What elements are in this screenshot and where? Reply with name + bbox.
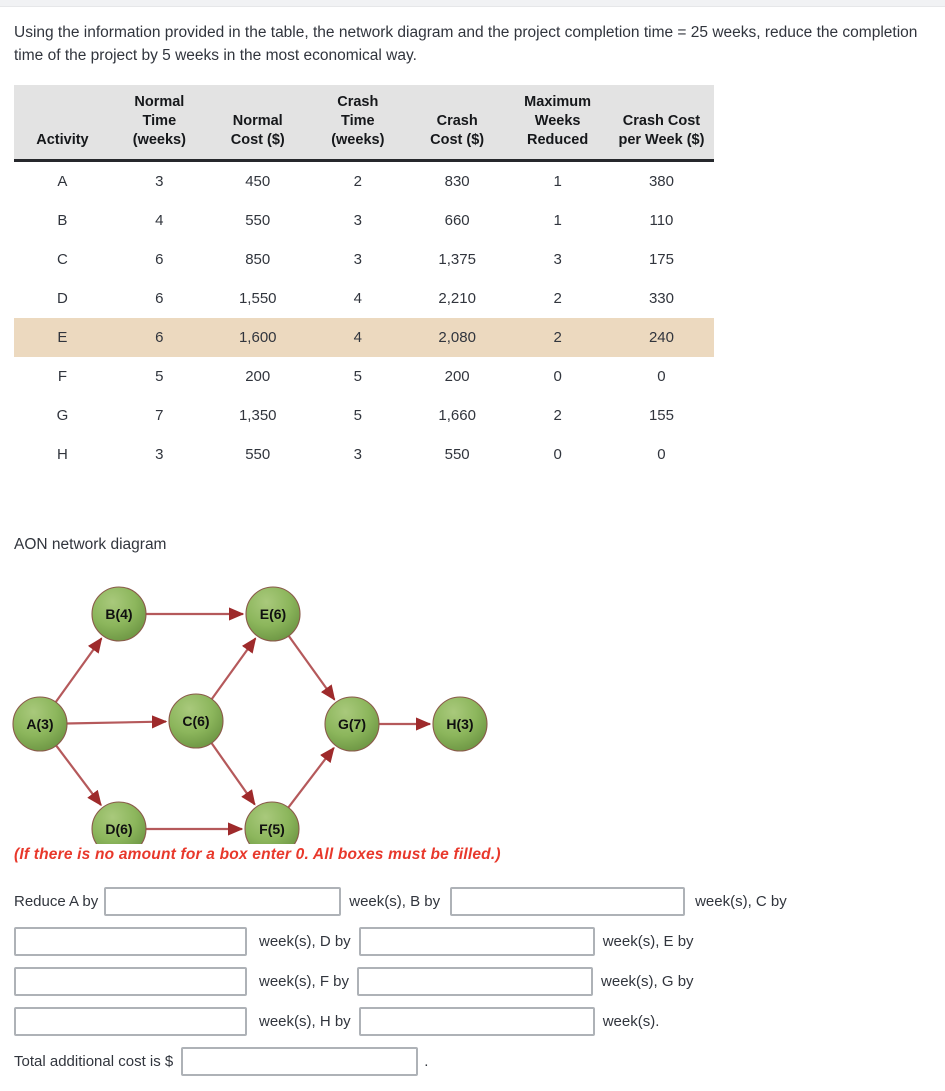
total-period: .	[424, 1053, 428, 1070]
cell-crash-cost: 660	[408, 201, 506, 240]
cell-normal-time: 3	[111, 161, 208, 202]
aon-diagram-svg: A(3)B(4)C(6)D(6)E(6)F(5)G(7)H(3)	[0, 554, 520, 844]
table-row: H 3 550 3 550 0 0	[14, 435, 714, 474]
col-header-crash-cost: Crash Cost ($)	[408, 85, 506, 161]
cell-max-weeks-reduced: 2	[506, 318, 609, 357]
cell-max-weeks-reduced: 2	[506, 279, 609, 318]
node-label: G(7)	[338, 716, 366, 732]
cell-normal-time: 6	[111, 279, 208, 318]
input-reduce-f[interactable]	[357, 967, 593, 996]
cell-crash-time: 5	[308, 357, 408, 396]
col-header-crash-cost-per-week: Crash Cost per Week ($)	[609, 85, 714, 161]
table-row-highlighted: E 6 1,600 4 2,080 2 240	[14, 318, 714, 357]
diagram-edge-a-b	[55, 638, 101, 703]
cell-max-weeks-reduced: 1	[506, 161, 609, 202]
input-reduce-e[interactable]	[14, 967, 247, 996]
cell-max-weeks-reduced: 1	[506, 201, 609, 240]
cell-crash-cost: 550	[408, 435, 506, 474]
cell-crash-cost-per-week: 155	[609, 396, 714, 435]
node-label: H(3)	[446, 716, 473, 732]
cell-crash-cost: 1,375	[408, 240, 506, 279]
diagram-edge-a-c	[66, 722, 166, 724]
label-week-d: week(s), D by	[259, 933, 351, 950]
diagram-edge-c-e	[211, 638, 255, 700]
node-label: E(6)	[260, 606, 286, 622]
diagram-node-e: E(6)	[246, 587, 300, 641]
form-row-4: week(s), H by week(s).	[14, 1006, 945, 1036]
cell-crash-time: 2	[308, 161, 408, 202]
diagram-node-h: H(3)	[433, 697, 487, 751]
cell-activity: E	[14, 318, 111, 357]
cell-crash-time: 4	[308, 279, 408, 318]
table-row: B 4 550 3 660 1 110	[14, 201, 714, 240]
cell-crash-cost: 2,210	[408, 279, 506, 318]
table-row: F 5 200 5 200 0 0	[14, 357, 714, 396]
cell-normal-cost: 1,550	[208, 279, 308, 318]
cell-normal-time: 3	[111, 435, 208, 474]
node-label: B(4)	[105, 606, 132, 622]
cell-normal-time: 4	[111, 201, 208, 240]
node-label: D(6)	[105, 821, 132, 837]
diagram-node-d: D(6)	[92, 802, 146, 844]
col-header-normal-cost: Normal Cost ($)	[208, 85, 308, 161]
diagram-node-f: F(5)	[245, 802, 299, 844]
diagram-edge-f-g	[288, 748, 334, 808]
label-week-b: week(s), B by	[349, 893, 440, 910]
input-total-additional-cost[interactable]	[181, 1047, 418, 1076]
diagram-node-b: B(4)	[92, 587, 146, 641]
label-week-f: week(s), F by	[259, 973, 349, 990]
cell-crash-cost: 2,080	[408, 318, 506, 357]
cell-normal-time: 7	[111, 396, 208, 435]
col-header-normal-time: Normal Time (weeks)	[111, 85, 208, 161]
node-label: C(6)	[182, 713, 209, 729]
cell-crash-cost-per-week: 330	[609, 279, 714, 318]
cell-normal-cost: 550	[208, 435, 308, 474]
cell-normal-cost: 200	[208, 357, 308, 396]
table-row: G 7 1,350 5 1,660 2 155	[14, 396, 714, 435]
diagram-title: AON network diagram	[14, 536, 945, 554]
diagram-edge-c-f	[211, 742, 255, 804]
table-header-row: Activity Normal Time (weeks) Normal Cost…	[14, 85, 714, 161]
table-row: A 3 450 2 830 1 380	[14, 161, 714, 202]
diagram-edge-e-g	[288, 635, 334, 700]
node-label: F(5)	[259, 821, 285, 837]
input-reduce-d[interactable]	[359, 927, 595, 956]
cell-activity: A	[14, 161, 111, 202]
table-body: A 3 450 2 830 1 380 B 4 550 3 660 1 110 …	[14, 161, 714, 475]
cell-activity: C	[14, 240, 111, 279]
cell-activity: D	[14, 279, 111, 318]
reduce-a-label: Reduce A by	[14, 893, 98, 910]
diagram-node-c: C(6)	[169, 694, 223, 748]
cell-crash-cost: 200	[408, 357, 506, 396]
cell-crash-cost-per-week: 110	[609, 201, 714, 240]
input-reduce-g[interactable]	[14, 1007, 247, 1036]
label-week-e: week(s), E by	[603, 933, 694, 950]
diagram-node-layer: A(3)B(4)C(6)D(6)E(6)F(5)G(7)H(3)	[13, 587, 487, 844]
cell-crash-cost: 830	[408, 161, 506, 202]
cell-normal-time: 6	[111, 240, 208, 279]
cell-normal-time: 6	[111, 318, 208, 357]
cell-crash-cost-per-week: 240	[609, 318, 714, 357]
label-week-end: week(s).	[603, 1013, 660, 1030]
cell-max-weeks-reduced: 2	[506, 396, 609, 435]
table-header: Activity Normal Time (weeks) Normal Cost…	[14, 85, 714, 161]
input-reduce-h[interactable]	[359, 1007, 595, 1036]
cell-activity: H	[14, 435, 111, 474]
label-week-c: week(s), C by	[695, 893, 787, 910]
table-row: D 6 1,550 4 2,210 2 330	[14, 279, 714, 318]
form-row-total: Total additional cost is $ .	[14, 1046, 945, 1076]
cell-crash-time: 5	[308, 396, 408, 435]
cell-normal-time: 5	[111, 357, 208, 396]
col-header-activity: Activity	[14, 85, 111, 161]
answer-form: Reduce A by week(s), B by week(s), C by …	[14, 886, 945, 1076]
input-reduce-a[interactable]	[104, 887, 341, 916]
total-cost-label: Total additional cost is $	[14, 1053, 173, 1070]
cell-normal-cost: 1,350	[208, 396, 308, 435]
form-row-2: week(s), D by week(s), E by	[14, 926, 945, 956]
diagram-edge-a-d	[56, 745, 101, 805]
crash-cost-table: Activity Normal Time (weeks) Normal Cost…	[14, 85, 714, 474]
cell-normal-cost: 450	[208, 161, 308, 202]
cell-crash-cost-per-week: 0	[609, 357, 714, 396]
cell-activity: F	[14, 357, 111, 396]
col-header-max-weeks-reduced: Maximum Weeks Reduced	[506, 85, 609, 161]
form-row-3: week(s), F by week(s), G by	[14, 966, 945, 996]
form-row-1: Reduce A by week(s), B by week(s), C by	[14, 886, 945, 916]
cell-normal-cost: 850	[208, 240, 308, 279]
cell-activity: B	[14, 201, 111, 240]
cell-crash-cost-per-week: 380	[609, 161, 714, 202]
cell-crash-cost-per-week: 0	[609, 435, 714, 474]
cell-crash-time: 3	[308, 240, 408, 279]
diagram-node-g: G(7)	[325, 697, 379, 751]
top-divider-bar	[0, 0, 945, 7]
input-reduce-b[interactable]	[450, 887, 685, 916]
cell-crash-cost: 1,660	[408, 396, 506, 435]
cell-max-weeks-reduced: 3	[506, 240, 609, 279]
question-prompt: Using the information provided in the ta…	[14, 21, 929, 67]
cell-max-weeks-reduced: 0	[506, 435, 609, 474]
label-week-h: week(s), H by	[259, 1013, 351, 1030]
cell-crash-time: 4	[308, 318, 408, 357]
cell-normal-cost: 1,600	[208, 318, 308, 357]
table-row: C 6 850 3 1,375 3 175	[14, 240, 714, 279]
cell-activity: G	[14, 396, 111, 435]
diagram-node-a: A(3)	[13, 697, 67, 751]
node-label: A(3)	[26, 716, 53, 732]
cell-crash-time: 3	[308, 201, 408, 240]
label-week-g: week(s), G by	[601, 973, 694, 990]
cell-crash-time: 3	[308, 435, 408, 474]
input-reduce-c[interactable]	[14, 927, 247, 956]
cell-max-weeks-reduced: 0	[506, 357, 609, 396]
cell-crash-cost-per-week: 175	[609, 240, 714, 279]
cell-normal-cost: 550	[208, 201, 308, 240]
aon-network-diagram: A(3)B(4)C(6)D(6)E(6)F(5)G(7)H(3)	[0, 554, 520, 832]
col-header-crash-time: Crash Time (weeks)	[308, 85, 408, 161]
all-boxes-warning: (If there is no amount for a box enter 0…	[14, 846, 945, 864]
